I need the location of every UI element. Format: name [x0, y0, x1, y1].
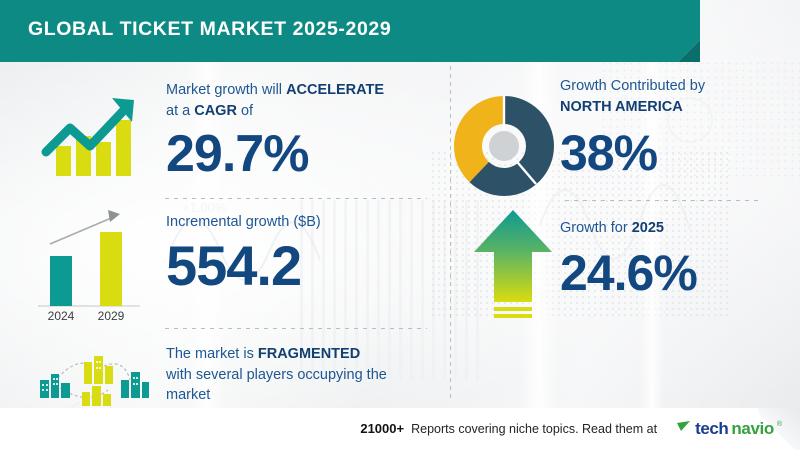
fragmented-line1-bold: FRAGMENTED: [258, 346, 360, 362]
growth-2025-value: 24.6%: [560, 247, 800, 300]
cagr-line2-post: of: [237, 103, 253, 119]
cagr-line1-bold: ACCELERATE: [286, 82, 384, 98]
donut-chart-icon: [452, 96, 556, 196]
bar-chart-icon: 2024 2029: [24, 200, 146, 326]
bar-label-2029: 2029: [98, 309, 125, 323]
vertical-divider: [450, 66, 451, 400]
technavio-logo[interactable]: tech navio ®: [676, 418, 782, 439]
horizontal-divider-left-1: [165, 198, 427, 199]
logo-registered-mark: ®: [777, 421, 782, 428]
growth-chart-icon: [28, 82, 146, 182]
cagr-caption: Market growth will ACCELERATE at a CAGR …: [166, 80, 434, 121]
bar-label-2024: 2024: [48, 309, 75, 323]
cagr-line1-pre: Market growth will: [166, 82, 286, 98]
panel-growth-2025: Growth for 2025 24.6%: [560, 218, 800, 299]
panel-north-america: Growth Contributed by NORTH AMERICA 38%: [560, 76, 800, 180]
growth-2025-label-pre: Growth for: [560, 220, 632, 236]
footer-content: 21000+ Reports covering niche topics. Re…: [360, 418, 782, 439]
panel-incremental-growth: Incremental growth ($B) 554.2: [166, 212, 434, 295]
page-title: GLOBAL TICKET MARKET 2025-2029: [28, 18, 391, 41]
up-arrow-icon: [470, 206, 556, 322]
technavio-mark-icon: [676, 418, 692, 434]
footer-bar: 21000+ Reports covering niche topics. Re…: [0, 408, 800, 450]
cagr-value: 29.7%: [166, 127, 434, 182]
logo-text-tech: tech: [695, 419, 728, 439]
fragmented-line2: with several players occupying the: [166, 367, 387, 383]
logo-text-navio: navio: [731, 419, 773, 439]
fragmented-caption: The market is FRAGMENTED with several pl…: [166, 344, 438, 406]
cagr-line2-bold: CAGR: [194, 103, 237, 119]
fragmented-line3: market: [166, 387, 210, 403]
cagr-line2-pre: at a: [166, 103, 194, 119]
north-america-value: 38%: [560, 127, 800, 180]
reports-count: 21000+: [360, 421, 404, 436]
fragmented-line1-pre: The market is: [166, 346, 258, 362]
horizontal-divider-left-2: [165, 328, 427, 329]
panel-cagr: Market growth will ACCELERATE at a CAGR …: [166, 80, 434, 182]
footer-text: Reports covering niche topics. Read them…: [411, 422, 657, 436]
infographic-canvas: +1.00% 0 0 0 GLOBAL TICKET MARKET 2025-2…: [0, 0, 800, 450]
growth-2025-caption: Growth for 2025: [560, 218, 800, 239]
incremental-value: 554.2: [166, 237, 434, 296]
panel-fragmented: The market is FRAGMENTED with several pl…: [166, 344, 438, 406]
city-network-icon: [26, 348, 150, 406]
horizontal-divider-right-1: [565, 200, 762, 201]
north-america-line1: Growth Contributed by: [560, 78, 705, 94]
north-america-region: NORTH AMERICA: [560, 99, 683, 115]
growth-2025-year: 2025: [632, 220, 664, 236]
north-america-caption: Growth Contributed by NORTH AMERICA: [560, 76, 800, 117]
incremental-label: Incremental growth ($B): [166, 212, 434, 233]
